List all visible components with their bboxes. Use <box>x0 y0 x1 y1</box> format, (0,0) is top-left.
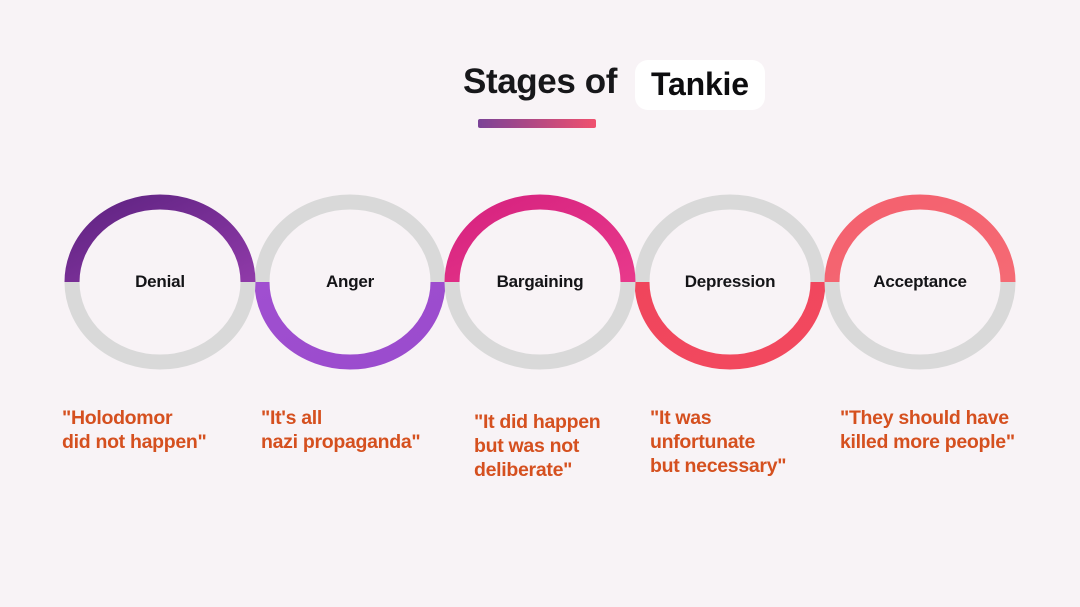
title-block: Stages of Tankie <box>0 58 1080 106</box>
title-underline-bar <box>478 119 596 128</box>
stage-ring-denial: Denial <box>62 192 258 372</box>
stage-caption-bargaining: "It did happen but was not deliberate" <box>474 410 649 482</box>
stage-ring-acceptance: Acceptance <box>822 192 1018 372</box>
stage-caption-depression: "It was unfortunate but necessary" <box>650 406 840 478</box>
title-row: Stages of Tankie <box>463 58 617 106</box>
stage-caption-denial: "Holodomor did not happen" <box>62 406 277 454</box>
stage-ring-depression: Depression <box>632 192 828 372</box>
stage-ring-anger: Anger <box>252 192 448 372</box>
page-title: Stages of <box>463 58 617 106</box>
tankie-sticker-label: Tankie <box>635 60 765 110</box>
stage-caption-anger: "It's all nazi propaganda" <box>261 406 466 454</box>
stage-caption-acceptance: "They should have killed more people" <box>840 406 1075 454</box>
infographic-canvas: Stages of Tankie DenialAngerBargainingDe… <box>0 0 1080 607</box>
stage-chain: DenialAngerBargainingDepressionAcceptanc… <box>0 180 1080 385</box>
stage-ring-bargaining: Bargaining <box>442 192 638 372</box>
